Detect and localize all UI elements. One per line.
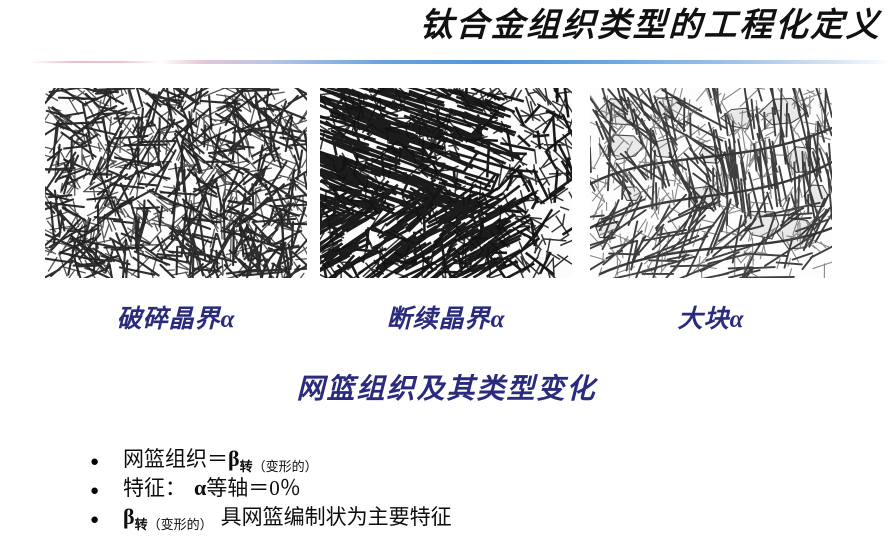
micrograph-image-2 — [320, 88, 572, 278]
bullet-dot-icon: ● — [90, 448, 123, 477]
page-title: 钛合金组织类型的工程化定义 — [419, 4, 882, 48]
divider-blue-segment — [160, 60, 893, 64]
bullet-1-lead: 网篮组织＝ — [123, 447, 228, 471]
bullet-3-beta: β — [123, 504, 135, 529]
divider-pink-segment — [30, 61, 160, 63]
bullet-3-tail: 具网篮编制状为主要特征 — [221, 505, 452, 529]
header-divider — [0, 60, 893, 65]
bullet-text-2: 特征：α等轴＝0％ — [123, 473, 850, 503]
micrograph-image-3 — [590, 88, 832, 278]
bullet-list: ● 网篮组织＝β转（变形的） ● 特征：α等轴＝0％ ● β转（变形的）具网篮编… — [90, 444, 850, 531]
bullet-1-subscript: 转 — [240, 459, 253, 474]
bullet-2-tail: 等轴＝0％ — [206, 476, 301, 500]
bullet-2-lead: 特征： — [123, 476, 186, 500]
bullet-1-note: （变形的） — [253, 459, 318, 474]
bullet-1-beta: β — [228, 446, 240, 471]
bullet-dot-icon: ● — [90, 506, 123, 535]
micrograph-caption-row: 破碎晶界α 断续晶界α 大块α — [0, 300, 893, 346]
micrograph-blocky-alpha — [590, 88, 832, 278]
bullet-text-3: β转（变形的）具网篮编制状为主要特征 — [123, 502, 850, 539]
caption-broken-grain-boundary-alpha: 破碎晶界α — [45, 300, 307, 340]
bullet-dot-icon: ● — [90, 477, 123, 506]
bullet-item-3: ● β转（变形的）具网篮编制状为主要特征 — [90, 502, 850, 531]
bullet-3-subscript: 转 — [135, 517, 148, 532]
micrograph-row — [0, 88, 893, 280]
section-subtitle: 网篮组织及其类型变化 — [0, 370, 893, 410]
bullet-2-alpha: α — [194, 475, 206, 500]
caption-blocky-alpha: 大块α — [590, 300, 832, 340]
micrograph-discontinuous-grain-boundary-alpha — [320, 88, 572, 278]
caption-discontinuous-grain-boundary-alpha: 断续晶界α — [320, 300, 572, 340]
bullet-item-1: ● 网篮组织＝β转（变形的） — [90, 444, 850, 473]
micrograph-image-1 — [45, 88, 307, 278]
bullet-3-note: （变形的） — [148, 517, 213, 532]
title-bar: 钛合金组织类型的工程化定义 — [0, 0, 893, 60]
bullet-item-2: ● 特征：α等轴＝0％ — [90, 473, 850, 502]
micrograph-broken-grain-boundary-alpha — [45, 88, 307, 278]
